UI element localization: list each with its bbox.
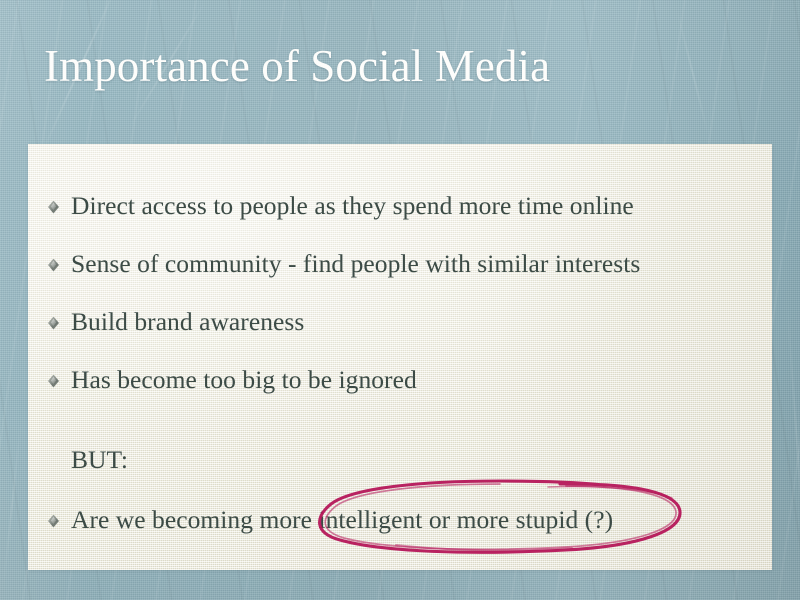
list-item-label: Direct access to people as they spend mo… [71,191,634,221]
diamond-bullet-icon [46,514,61,529]
list-item: Sense of community - find people with si… [46,249,640,279]
bullet-list: Direct access to people as they spend mo… [28,144,772,570]
list-item: Has become too big to be ignored [46,365,417,395]
list-item: Direct access to people as they spend mo… [46,191,634,221]
list-item-label: Sense of community - find people with si… [71,249,640,279]
diamond-bullet-icon [46,200,61,215]
diamond-bullet-icon [46,316,61,331]
list-item: BUT: [46,445,128,475]
list-item-label: Has become too big to be ignored [71,365,417,395]
content-panel: Direct access to people as they spend mo… [28,144,772,570]
list-item-label: Build brand awareness [71,307,304,337]
slide: Importance of Social Media Direct access… [0,0,800,600]
slide-title: Importance of Social Media [44,43,550,90]
list-item: Are we becoming more intelligent or more… [46,505,613,535]
diamond-bullet-icon [46,258,61,273]
list-item-label: Are we becoming more intelligent or more… [71,505,613,535]
diamond-bullet-icon [46,374,61,389]
list-item: Build brand awareness [46,307,304,337]
list-item-label: BUT: [71,445,128,475]
